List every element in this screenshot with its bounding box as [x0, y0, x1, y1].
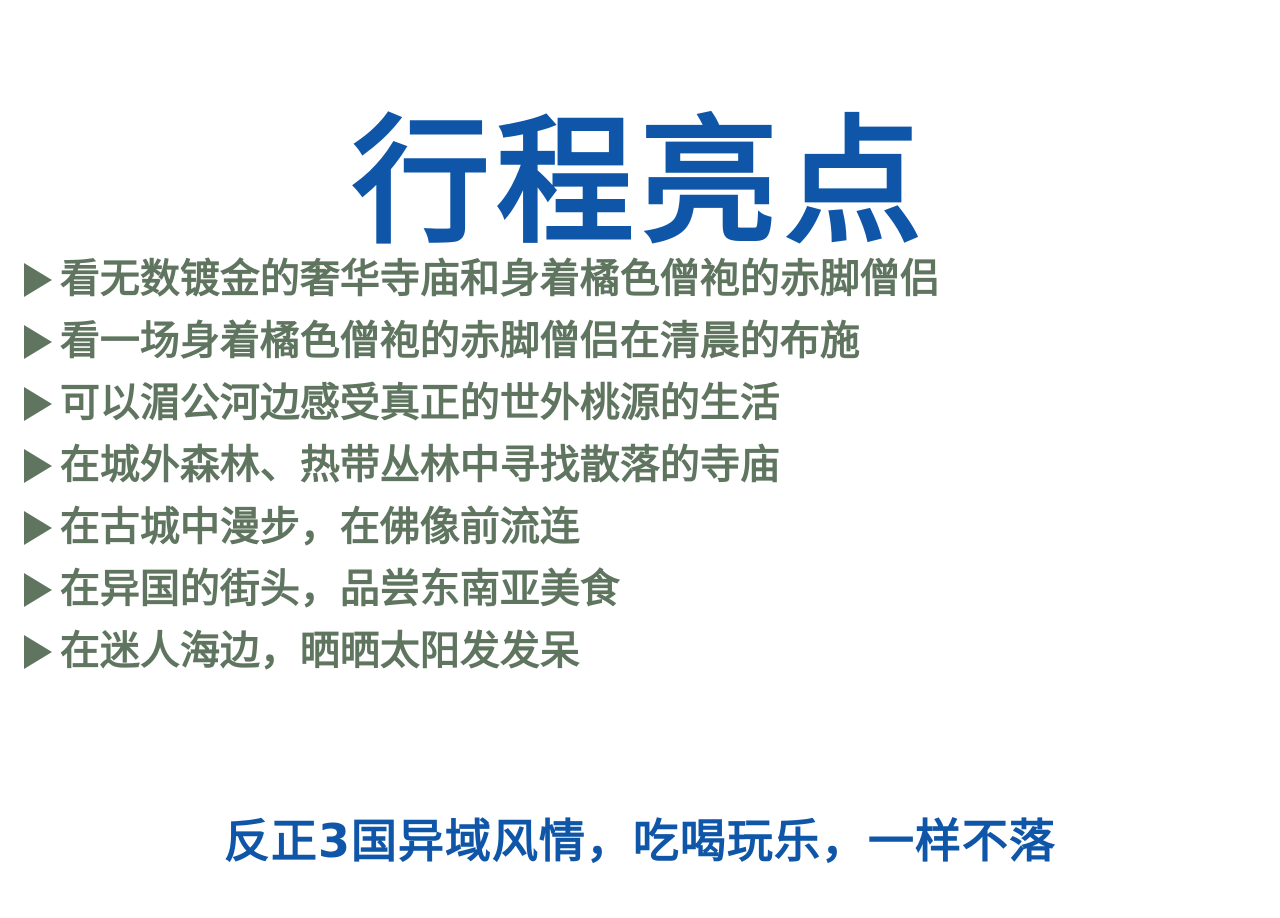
list-item-label: 在迷人海边，晒晒太阳发发呆: [60, 620, 580, 682]
triangle-right-icon: [24, 387, 52, 421]
slide-canvas: 行程亮点 看无数镀金的奢华寺庙和身着橘色僧袍的赤脚僧侣 看一场身着橘色僧袍的赤脚…: [0, 0, 1280, 908]
list-item-label: 看无数镀金的奢华寺庙和身着橘色僧袍的赤脚僧侣: [60, 248, 940, 310]
page-title: 行程亮点: [352, 108, 928, 257]
list-item-label: 在异国的街头，品尝东南亚美食: [60, 558, 620, 620]
list-item-label: 在古城中漫步，在佛像前流连: [60, 496, 580, 558]
triangle-right-icon: [24, 511, 52, 545]
list-item: 在异国的街头，品尝东南亚美食: [24, 558, 1264, 620]
list-item: 在古城中漫步，在佛像前流连: [24, 496, 1264, 558]
triangle-right-icon: [24, 635, 52, 669]
list-item-label: 可以湄公河边感受真正的世外桃源的生活: [60, 372, 780, 434]
list-item-label: 在城外森林、热带丛林中寻找散落的寺庙: [60, 434, 780, 496]
triangle-right-icon: [24, 449, 52, 483]
triangle-right-icon: [24, 325, 52, 359]
list-item: 看无数镀金的奢华寺庙和身着橘色僧袍的赤脚僧侣: [24, 248, 1264, 310]
list-item: 看一场身着橘色僧袍的赤脚僧侣在清晨的布施: [24, 310, 1264, 372]
highlights-list: 看无数镀金的奢华寺庙和身着橘色僧袍的赤脚僧侣 看一场身着橘色僧袍的赤脚僧侣在清晨…: [24, 248, 1264, 682]
list-item-label: 看一场身着橘色僧袍的赤脚僧侣在清晨的布施: [60, 310, 860, 372]
footer-tagline-container: 反正3国异域风情，吃喝玩乐，一样不落: [0, 764, 1280, 918]
footer-tagline: 反正3国异域风情，吃喝玩乐，一样不落: [224, 810, 1056, 872]
list-item: 在城外森林、热带丛林中寻找散落的寺庙: [24, 434, 1264, 496]
triangle-right-icon: [24, 573, 52, 607]
list-item: 在迷人海边，晒晒太阳发发呆: [24, 620, 1264, 682]
list-item: 可以湄公河边感受真正的世外桃源的生活: [24, 372, 1264, 434]
triangle-right-icon: [24, 263, 52, 297]
